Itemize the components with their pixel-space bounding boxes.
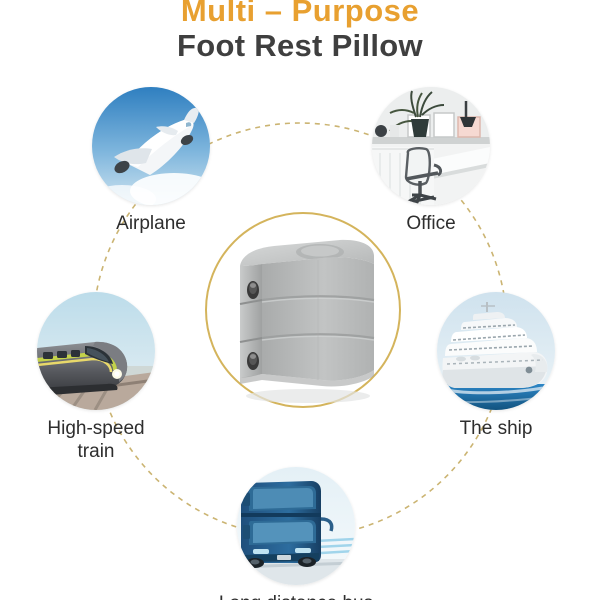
double-decker-bus-icon (237, 467, 355, 585)
node-label-long-distance-bus: Long distance bus (216, 592, 376, 600)
title-line-foot-rest-pillow: Foot Rest Pillow (0, 28, 600, 64)
product-image-foot-rest-pillow (222, 228, 390, 408)
high-speed-train-icon (37, 292, 155, 410)
title-line-multi-purpose: Multi – Purpose (0, 0, 600, 28)
node-label-office: Office (351, 212, 511, 235)
node-long-distance-bus[interactable]: Long distance bus (237, 467, 376, 600)
office-icon (372, 87, 490, 205)
product-infographic: Multi – Purpose Foot Rest Pillow (0, 0, 600, 600)
node-high-speed-train[interactable]: High-speed train (37, 292, 176, 463)
node-office[interactable]: Office (372, 87, 511, 235)
node-label-high-speed-train: High-speed train (16, 417, 176, 463)
cruise-ship-icon (437, 292, 555, 410)
valve-lower-icon (247, 352, 259, 370)
node-the-ship[interactable]: The ship (437, 292, 576, 440)
page-title: Multi – Purpose Foot Rest Pillow (0, 0, 600, 64)
node-label-the-ship: The ship (416, 417, 576, 440)
node-airplane[interactable]: Airplane (92, 87, 231, 235)
airplane-icon (92, 87, 210, 205)
node-label-airplane: Airplane (71, 212, 231, 235)
valve-upper-icon (247, 281, 259, 299)
